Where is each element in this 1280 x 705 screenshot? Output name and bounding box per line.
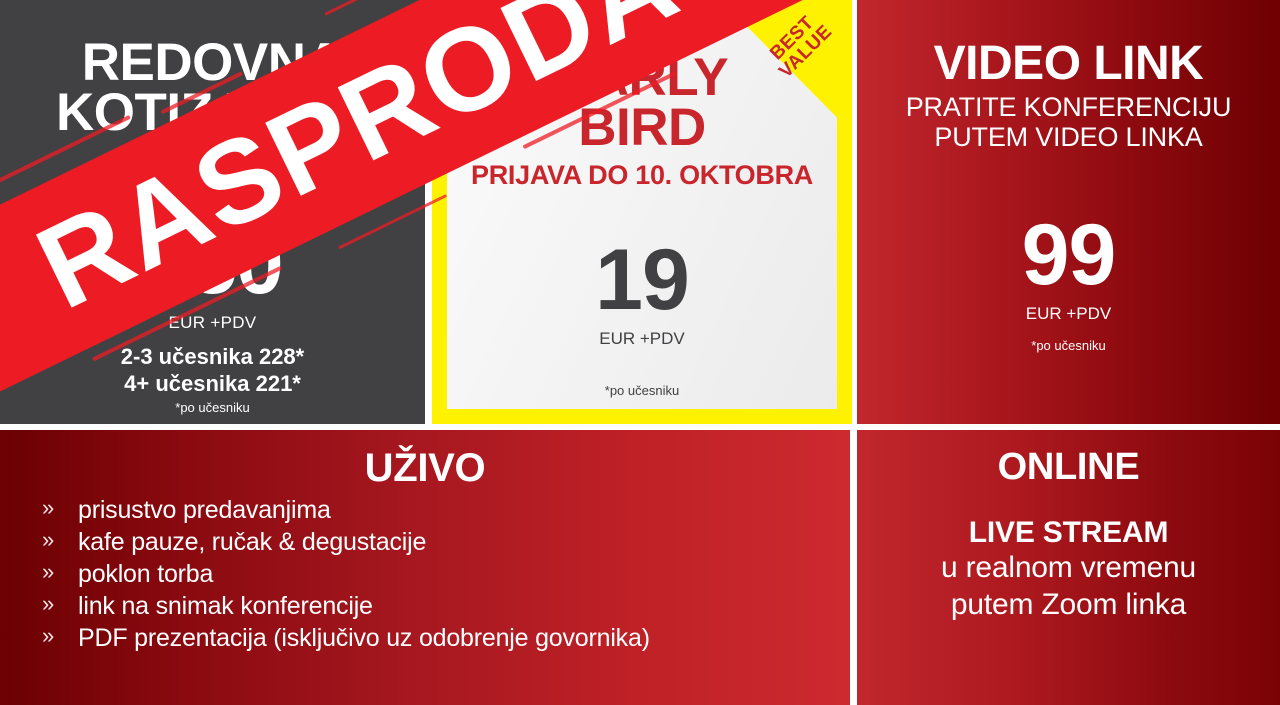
- plan-price-video-link: 99: [857, 212, 1280, 298]
- plan-currency-early-bird: EUR +PDV: [447, 329, 837, 349]
- plan-note-early-bird: *po učesniku: [447, 383, 837, 398]
- includes-card-online: ONLINE LIVE STREAM u realnom vremenu put…: [857, 430, 1280, 705]
- online-detail-line1: u realnom vremenu: [857, 550, 1280, 587]
- list-item: » kafe pauze, ručak & degustacije: [42, 526, 850, 558]
- list-item-label: PDF prezentacija (isključivo uz odobrenj…: [78, 624, 650, 652]
- chevron-double-right-icon: »: [42, 526, 54, 554]
- plan-subtitle-video-link: PRATITE KONFERENCIJU PUTEM VIDEO LINKA: [857, 92, 1280, 152]
- pricing-table: REDOVNA KOTIZACIJA 250 EUR +PDV 2-3 učes…: [0, 0, 1280, 705]
- plan-note-video-link: *po učesniku: [857, 338, 1280, 353]
- plan-card-video-link[interactable]: VIDEO LINK PRATITE KONFERENCIJU PUTEM VI…: [857, 0, 1280, 424]
- plan-note-regular: *po učesniku: [0, 400, 425, 415]
- list-item: » prisustvo predavanjima: [42, 494, 850, 526]
- chevron-double-right-icon: »: [42, 494, 54, 522]
- list-item-label: prisustvo predavanjima: [78, 496, 331, 524]
- plan-price-early-bird: 19: [447, 237, 837, 323]
- list-item-label: link na snimak konferencije: [78, 592, 373, 620]
- chevron-double-right-icon: »: [42, 622, 54, 650]
- list-item: » link na snimak konferencije: [42, 590, 850, 622]
- chevron-double-right-icon: »: [42, 590, 54, 618]
- plan-title-video-link: VIDEO LINK: [857, 0, 1280, 88]
- chevron-double-right-icon: »: [42, 558, 54, 586]
- list-item: » PDF prezentacija (isključivo uz odobre…: [42, 622, 850, 654]
- includes-title-online: ONLINE: [857, 430, 1280, 486]
- plan-tier-regular-4plus: 4+ učesnika 221*: [0, 370, 425, 397]
- plan-currency-video-link: EUR +PDV: [857, 304, 1280, 324]
- plan-subtitle-video-link-line1: PRATITE KONFERENCIJU: [857, 92, 1280, 122]
- includes-list-onsite: » prisustvo predavanjima » kafe pauze, r…: [0, 494, 850, 654]
- includes-card-onsite: UŽIVO » prisustvo predavanjima » kafe pa…: [0, 430, 850, 705]
- list-item-label: kafe pauze, ručak & degustacije: [78, 528, 426, 556]
- list-item: » poklon torba: [42, 558, 850, 590]
- plan-subtitle-video-link-line2: PUTEM VIDEO LINKA: [857, 122, 1280, 152]
- list-item-label: poklon torba: [78, 560, 213, 588]
- plan-subtitle-early-bird: PRIJAVA DO 10. OKTOBRA: [447, 160, 837, 191]
- online-detail-line2: putem Zoom linka: [857, 587, 1280, 624]
- online-live-stream-label: LIVE STREAM: [857, 516, 1280, 550]
- includes-title-onsite: UŽIVO: [0, 430, 850, 488]
